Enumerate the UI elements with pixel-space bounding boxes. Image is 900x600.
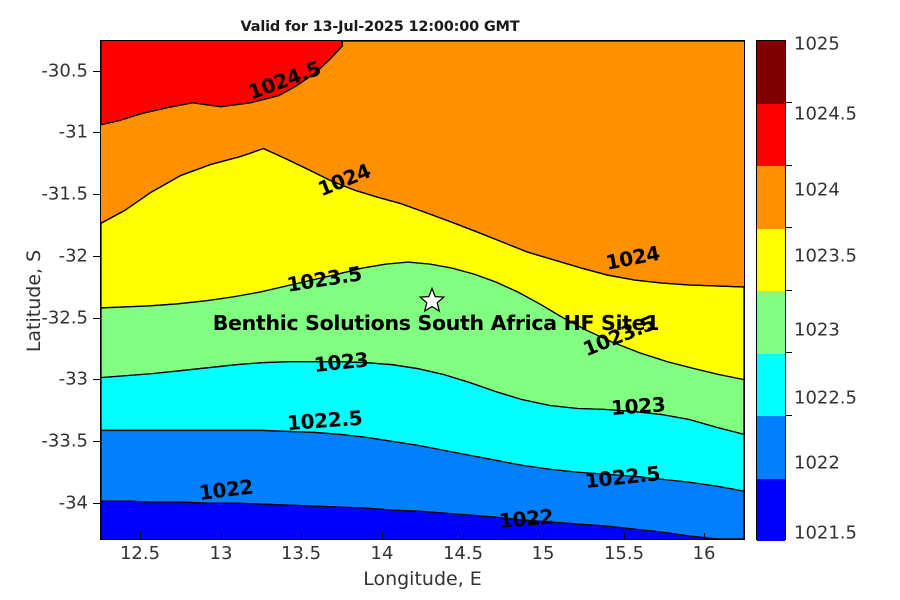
colorbar-label: 1024 bbox=[794, 180, 840, 201]
colorbar-band-1022_5 bbox=[757, 354, 785, 417]
x-tick bbox=[463, 533, 464, 540]
colorbar-tick bbox=[786, 352, 792, 353]
colorbar-tick bbox=[786, 102, 792, 103]
colorbar-label: 1023.5 bbox=[794, 246, 857, 267]
colorbar-label: 1022 bbox=[794, 453, 840, 474]
colorbar-tick bbox=[786, 227, 792, 228]
x-tick-label: 13.5 bbox=[281, 543, 321, 564]
colorbar-band-1024_5 bbox=[757, 104, 785, 167]
colorbar-tick bbox=[786, 415, 792, 416]
y-tick bbox=[93, 132, 100, 133]
y-tick bbox=[93, 503, 100, 504]
x-tick-label: 13 bbox=[210, 543, 233, 564]
x-tick bbox=[704, 533, 705, 540]
contour-label: 1022 bbox=[498, 504, 554, 533]
y-tick bbox=[93, 441, 100, 442]
colorbar-label: 1025 bbox=[794, 34, 840, 55]
colorbar-band-1021_5 bbox=[757, 479, 785, 542]
colorbar-band-1024 bbox=[757, 166, 785, 229]
colorbar-tick bbox=[786, 165, 792, 166]
x-tick bbox=[301, 533, 302, 540]
y-tick bbox=[93, 318, 100, 319]
y-axis-label: Latitude, S bbox=[23, 201, 45, 401]
y-tick bbox=[93, 71, 100, 72]
x-tick bbox=[382, 533, 383, 540]
x-axis-label: Longitude, E bbox=[100, 568, 745, 590]
x-tick bbox=[140, 533, 141, 540]
x-tick-label: 12.5 bbox=[120, 543, 160, 564]
site-label: Benthic Solutions South Africa HF Site1 bbox=[213, 311, 660, 335]
y-tick bbox=[93, 194, 100, 195]
colorbar-label: 1022.5 bbox=[794, 388, 857, 409]
x-tick-label: 15.5 bbox=[604, 543, 644, 564]
x-tick bbox=[543, 533, 544, 540]
y-tick bbox=[93, 256, 100, 257]
colorbar-band-1023_5 bbox=[757, 229, 785, 292]
x-tick-label: 14.5 bbox=[443, 543, 483, 564]
contour-plot-area: 1024.5 1024 1024 1023.5 1023.5 1023 1023… bbox=[100, 40, 745, 540]
y-tick bbox=[93, 379, 100, 380]
x-tick bbox=[624, 533, 625, 540]
x-tick bbox=[221, 533, 222, 540]
y-tick-label: -33.5 bbox=[0, 431, 88, 452]
colorbar-band-1022 bbox=[757, 416, 785, 479]
x-tick-label: 16 bbox=[693, 543, 716, 564]
y-tick-label: -30.5 bbox=[0, 61, 88, 82]
page-title: Valid for 13-Jul-2025 12:00:00 GMT bbox=[0, 19, 760, 35]
y-tick-label: -34 bbox=[0, 493, 88, 514]
star-marker bbox=[419, 287, 445, 313]
colorbar-label: 1023 bbox=[794, 320, 840, 341]
y-tick-label: -31 bbox=[0, 122, 88, 143]
contour-label: 1023 bbox=[610, 392, 666, 420]
x-tick-label: 14 bbox=[371, 543, 394, 564]
colorbar bbox=[756, 40, 786, 540]
colorbar-band-1025 bbox=[757, 41, 785, 104]
colorbar-label: 1021.5 bbox=[794, 523, 857, 544]
colorbar-label: 1024.5 bbox=[794, 104, 857, 125]
colorbar-band-1023 bbox=[757, 291, 785, 354]
colorbar-tick bbox=[786, 290, 792, 291]
x-tick-label: 15 bbox=[532, 543, 555, 564]
